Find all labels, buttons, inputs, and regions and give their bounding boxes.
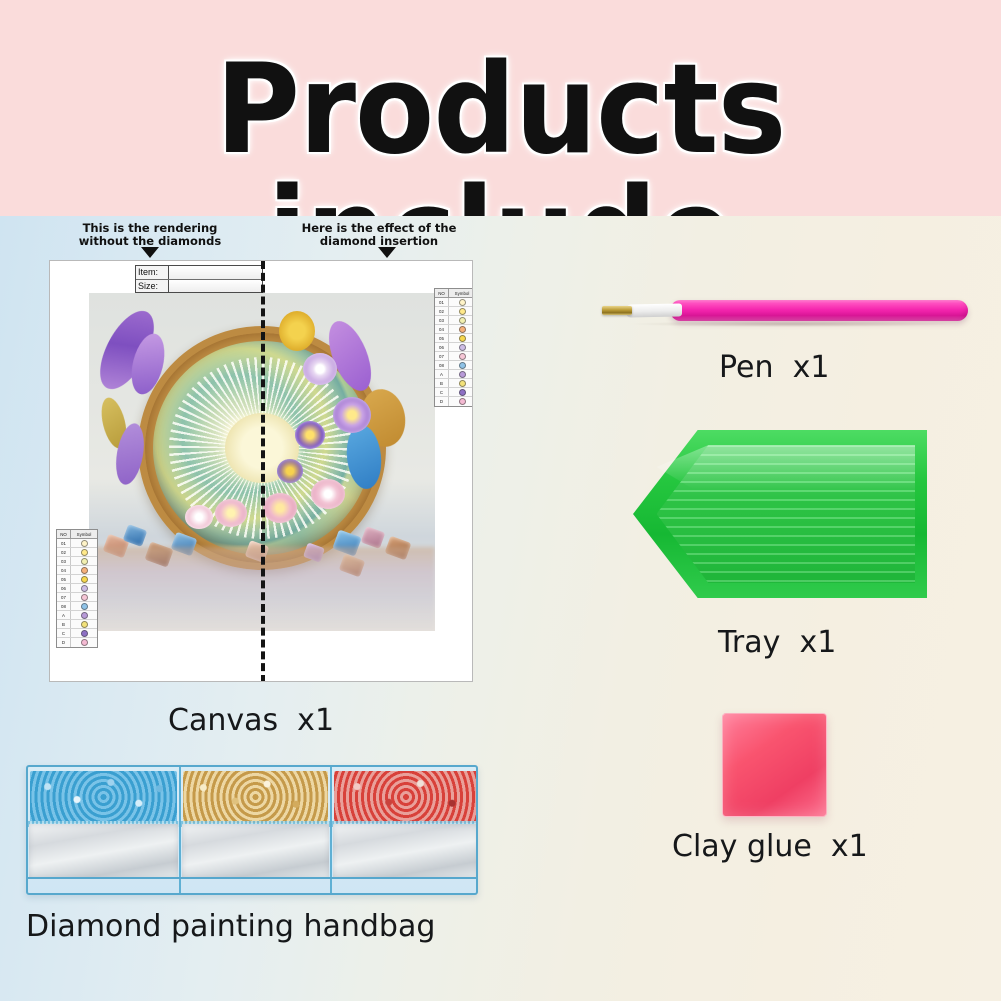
- legend-row: C: [57, 629, 97, 638]
- legend-header-symbol: Symbol: [71, 530, 97, 538]
- canvas-preview-card: Item: Size:: [49, 260, 473, 682]
- symbol-dot-icon: [459, 326, 466, 333]
- symbol-dot-icon: [459, 317, 466, 324]
- symbol-legend-top-right: NO Symbol 01 02 03 04 05 06 07 08 A B C …: [434, 288, 473, 407]
- flower-petal: [277, 459, 303, 483]
- symbol-dot-icon: [459, 380, 466, 387]
- legend-row: A: [57, 611, 97, 620]
- legend-row-no: 05: [57, 575, 71, 583]
- handbag-bottom-seam: [28, 877, 476, 891]
- clay-glue-caption: Clay glue x1: [672, 829, 868, 864]
- symbol-dot-icon: [459, 335, 466, 342]
- down-triangle-icon: [141, 247, 159, 258]
- legend-row-no: 07: [435, 352, 449, 360]
- legend-row-no: C: [435, 388, 449, 396]
- legend-row: 04: [57, 566, 97, 575]
- rhinestone-fill: [30, 771, 177, 823]
- handbag-image: [26, 765, 478, 895]
- legend-row: 05: [57, 575, 97, 584]
- symbol-dot-icon: [81, 639, 88, 646]
- legend-row-no: 03: [435, 316, 449, 324]
- legend-row-no: 07: [57, 593, 71, 601]
- split-divider-line: [261, 261, 265, 682]
- legend-row-no: B: [57, 620, 71, 628]
- foil-label: [29, 824, 178, 879]
- spec-key-size: Size:: [136, 280, 169, 292]
- symbol-dot-icon: [81, 558, 88, 565]
- legend-row: 02: [57, 548, 97, 557]
- clay-glue-image: [722, 713, 827, 817]
- tray-caption: Tray x1: [718, 625, 836, 660]
- legend-row-symbol: [449, 352, 473, 360]
- legend-row-no: B: [435, 379, 449, 387]
- legend-row-symbol: [71, 584, 97, 592]
- symbol-dot-icon: [81, 594, 88, 601]
- legend-header-no: NO: [57, 530, 71, 538]
- legend-row-symbol: [449, 379, 473, 387]
- spec-table: Item: Size:: [135, 265, 263, 293]
- legend-row-symbol: [71, 638, 97, 647]
- pen-image: [586, 294, 968, 328]
- symbol-dot-icon: [459, 362, 466, 369]
- legend-row-symbol: [71, 566, 97, 574]
- pen-metal-tip: [602, 306, 632, 315]
- flower-petal: [295, 421, 325, 449]
- spec-key-item: Item:: [136, 266, 169, 279]
- legend-row: 03: [435, 316, 473, 325]
- spec-value-size: [169, 280, 262, 292]
- handbag-compartment: [330, 767, 478, 895]
- spec-value-item: [169, 266, 262, 279]
- legend-row-symbol: [71, 629, 97, 637]
- legend-row: 02: [435, 307, 473, 316]
- symbol-dot-icon: [459, 299, 466, 306]
- header-banner: Products include: [0, 0, 1001, 216]
- symbol-dot-icon: [81, 603, 88, 610]
- gemstone: [361, 526, 386, 549]
- legend-row-symbol: [71, 575, 97, 583]
- legend-header: NO Symbol: [57, 530, 97, 539]
- legend-row: 07: [435, 352, 473, 361]
- symbol-dot-icon: [81, 612, 88, 619]
- legend-row-no: D: [435, 397, 449, 406]
- callout-rendering-note: This is the rendering without the diamon…: [62, 222, 238, 248]
- legend-row-symbol: [449, 298, 473, 306]
- legend-row: 06: [57, 584, 97, 593]
- flower-petal: [311, 479, 345, 509]
- legend-row: C: [435, 388, 473, 397]
- tray-highlight: [657, 445, 916, 489]
- legend-row: 08: [57, 602, 97, 611]
- legend-row-symbol: [71, 593, 97, 601]
- legend-row-no: 02: [57, 548, 71, 556]
- flower-petal: [263, 493, 297, 523]
- legend-row-no: A: [57, 611, 71, 619]
- legend-row-symbol: [449, 334, 473, 342]
- legend-row-symbol: [71, 602, 97, 610]
- symbol-dot-icon: [459, 371, 466, 378]
- symbol-legend-bottom-left: NO Symbol 01 02 03 04 05 06 07 08 A B C …: [56, 529, 98, 648]
- legend-row: B: [435, 379, 473, 388]
- legend-row: 06: [435, 343, 473, 352]
- legend-row-symbol: [71, 539, 97, 547]
- symbol-dot-icon: [459, 308, 466, 315]
- pen-shadow: [626, 321, 956, 327]
- legend-row-symbol: [71, 548, 97, 556]
- handbag-caption: Diamond painting handbag: [26, 909, 435, 944]
- legend-row-no: A: [435, 370, 449, 378]
- legend-row: 03: [57, 557, 97, 566]
- spec-row-size: Size:: [136, 279, 262, 292]
- product-include-infographic: Products include This is the rendering w…: [0, 0, 1001, 1001]
- legend-row-no: 01: [57, 539, 71, 547]
- symbol-dot-icon: [81, 567, 88, 574]
- legend-row-no: 05: [435, 334, 449, 342]
- legend-row: 01: [435, 298, 473, 307]
- legend-row-no: 02: [435, 307, 449, 315]
- down-triangle-icon: [378, 247, 396, 258]
- rhinestone-fill: [334, 771, 478, 823]
- pen-neck: [626, 303, 682, 317]
- legend-row-symbol: [449, 343, 473, 351]
- legend-row: D: [57, 638, 97, 647]
- legend-row-no: 08: [435, 361, 449, 369]
- legend-row-no: D: [57, 638, 71, 647]
- legend-row-no: 08: [57, 602, 71, 610]
- legend-header-no: NO: [435, 289, 449, 297]
- legend-row: B: [57, 620, 97, 629]
- legend-row-no: 04: [57, 566, 71, 574]
- legend-row-no: 01: [435, 298, 449, 306]
- legend-row: 01: [57, 539, 97, 548]
- legend-row-symbol: [449, 397, 473, 406]
- legend-row: D: [435, 397, 473, 406]
- legend-row-symbol: [449, 325, 473, 333]
- legend-row-symbol: [71, 611, 97, 619]
- legend-row: 08: [435, 361, 473, 370]
- callout-diamond-effect-note: Here is the effect of the diamond insert…: [288, 222, 470, 248]
- pen-caption: Pen x1: [719, 350, 829, 385]
- flower-petal: [303, 353, 337, 385]
- rhinestone-fill: [183, 771, 328, 823]
- symbol-dot-icon: [81, 585, 88, 592]
- symbol-dot-icon: [459, 353, 466, 360]
- legend-row-no: 03: [57, 557, 71, 565]
- legend-row-symbol: [449, 307, 473, 315]
- legend-row-symbol: [71, 557, 97, 565]
- handbag-compartment: [179, 767, 330, 895]
- legend-row-no: C: [57, 629, 71, 637]
- legend-row: A: [435, 370, 473, 379]
- symbol-dot-icon: [459, 398, 466, 405]
- legend-row-no: 04: [435, 325, 449, 333]
- foil-label: [182, 824, 329, 879]
- tray-image: [633, 430, 927, 598]
- legend-header: NO Symbol: [435, 289, 473, 298]
- canvas-caption: Canvas x1: [168, 703, 334, 738]
- symbol-dot-icon: [81, 540, 88, 547]
- legend-row-symbol: [449, 361, 473, 369]
- flower-cluster: [279, 311, 315, 351]
- legend-header-symbol: Symbol: [449, 289, 473, 297]
- symbol-dot-icon: [81, 621, 88, 628]
- legend-row-symbol: [449, 388, 473, 396]
- symbol-dot-icon: [459, 344, 466, 351]
- legend-row-no: 06: [57, 584, 71, 592]
- legend-row: 05: [435, 334, 473, 343]
- legend-row: 07: [57, 593, 97, 602]
- foil-label: [333, 824, 478, 879]
- symbol-dot-icon: [81, 549, 88, 556]
- symbol-dot-icon: [81, 576, 88, 583]
- legend-row-symbol: [449, 370, 473, 378]
- pen-barrel: [670, 300, 968, 321]
- spec-row-item: Item:: [136, 266, 262, 279]
- flower-petal: [185, 505, 213, 529]
- legend-row-symbol: [449, 316, 473, 324]
- legend-row: 04: [435, 325, 473, 334]
- symbol-dot-icon: [81, 630, 88, 637]
- flower-petal: [333, 397, 371, 433]
- symbol-dot-icon: [459, 389, 466, 396]
- handbag-compartment: [28, 767, 179, 895]
- legend-row-symbol: [71, 620, 97, 628]
- flower-petal: [215, 499, 247, 527]
- legend-row-no: 06: [435, 343, 449, 351]
